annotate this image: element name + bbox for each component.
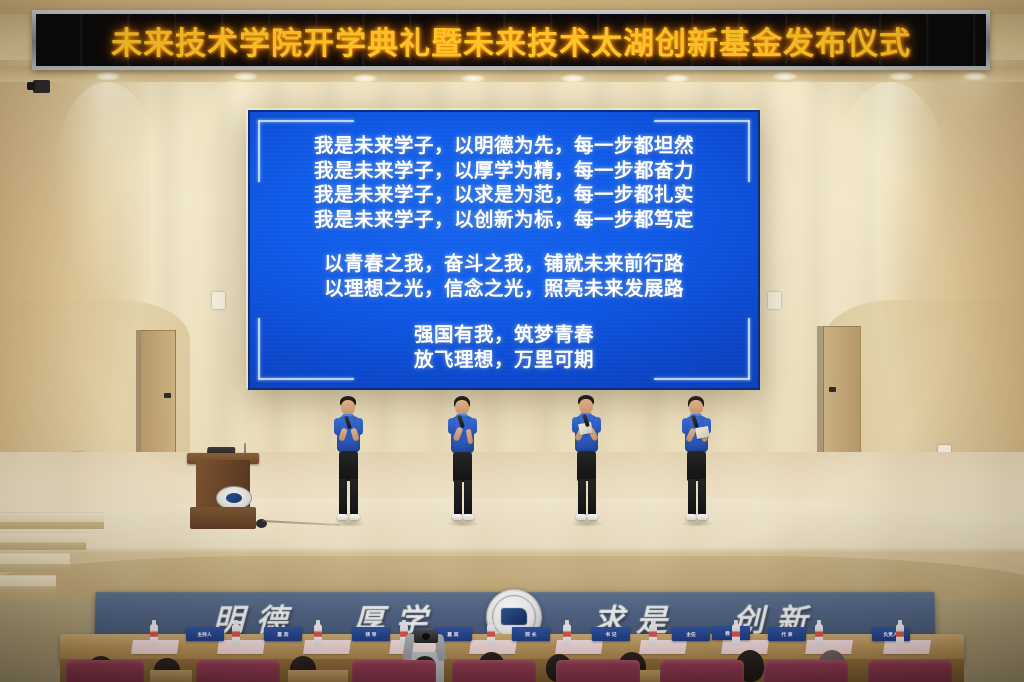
performer-leg	[339, 479, 347, 515]
chair-frame	[150, 670, 192, 682]
chair-back	[660, 660, 744, 682]
slide-line: 我是未来学子，以厚学为精，每一步都奋力	[314, 159, 694, 184]
nameplate-label: 书 记	[605, 631, 616, 638]
downlight	[95, 72, 121, 81]
nameplate-label: 嘉 宾	[447, 631, 458, 638]
downlight	[460, 74, 486, 83]
performer-leg	[454, 480, 462, 515]
performer-shadow	[447, 520, 479, 527]
performer	[330, 396, 366, 528]
performer-head	[689, 400, 703, 415]
nameplate: 书 记	[592, 627, 630, 641]
performer-head	[579, 399, 593, 414]
slide-line: 我是未来学子，以明德为先，每一步都坦然	[314, 134, 694, 159]
performer-leg	[464, 480, 472, 515]
performer-shadow	[681, 520, 713, 527]
table-paper	[883, 640, 931, 654]
nameplate: 领 导	[352, 627, 390, 641]
nameplate-label: 领 导	[365, 631, 376, 638]
water-bottle	[896, 624, 904, 646]
chair-back	[196, 660, 280, 682]
slide-line: 以青春之我，奋斗之我，铺就未来前行路	[324, 252, 684, 277]
nameplate: 教 授	[712, 626, 750, 640]
wall-plate	[212, 292, 225, 309]
led-banner-screen: 未来技术学院开学典礼暨未来技术太湖创新基金发布仪式	[36, 14, 986, 66]
water-bottle	[649, 624, 657, 646]
water-bottle	[232, 624, 240, 646]
water-bottle	[314, 624, 322, 646]
water-bottle	[563, 624, 571, 646]
chair-frame	[640, 670, 660, 682]
podium	[186, 447, 260, 530]
nameplate: 代 表	[768, 627, 806, 641]
performer	[444, 396, 480, 528]
downlight	[352, 74, 378, 83]
nameplate: 主任	[672, 627, 710, 641]
chair-back	[868, 660, 952, 682]
table-paper	[639, 640, 687, 654]
performer-leg	[688, 479, 696, 515]
slide-line: 以理想之光，信念之光，照亮未来发展路	[324, 277, 684, 302]
led-banner-frame: 未来技术学院开学典礼暨未来技术太湖创新基金发布仪式	[32, 10, 990, 70]
auditorium-scene: 未来技术学院开学典礼暨未来技术太湖创新基金发布仪式 我是未来学子，以明德为先，每…	[0, 0, 1024, 682]
performer-head	[341, 400, 355, 415]
performer-pants	[339, 451, 358, 481]
chair-back	[66, 660, 144, 682]
performer-pants	[453, 452, 472, 482]
downlight	[888, 72, 914, 81]
nameplate: 院 长	[512, 627, 550, 641]
performer-shadow	[571, 520, 603, 527]
performer-leg	[578, 479, 586, 515]
water-bottle	[732, 624, 740, 646]
chair-back	[352, 660, 436, 682]
downlight	[560, 74, 586, 83]
nameplate: 负责人	[872, 627, 910, 641]
performer-pants	[577, 451, 596, 481]
downlight	[772, 72, 798, 81]
slide-line: 强国有我，筑梦青春	[414, 323, 594, 348]
water-bottle	[150, 624, 158, 646]
right-door[interactable]	[823, 326, 861, 473]
performer-pants	[687, 451, 706, 481]
table-paper	[217, 640, 265, 654]
led-banner-text: 未来技术学院开学典礼暨未来技术太湖创新基金发布仪式	[111, 18, 911, 63]
nameplate-label: 代 表	[781, 631, 792, 638]
chair-back	[452, 660, 536, 682]
security-camera-icon	[33, 80, 50, 93]
door-handle-icon	[164, 393, 171, 398]
projection-screen: 我是未来学子，以明德为先，每一步都坦然 我是未来学子，以厚学为精，每一步都奋力 …	[248, 110, 760, 390]
downlight	[664, 74, 690, 83]
left-door[interactable]	[140, 330, 176, 472]
nameplate-label: 主任	[686, 631, 696, 638]
stage-floor-grain	[0, 452, 1024, 602]
performer	[678, 396, 714, 528]
performer-sleeve	[448, 418, 455, 434]
slide-line: 我是未来学子，以求是为范，每一步都扎实	[314, 183, 694, 208]
script-paper	[695, 426, 710, 439]
camera-icon	[414, 630, 438, 643]
wall-plate	[768, 292, 781, 309]
performer-head	[455, 400, 469, 415]
slide-line: 放飞理想，万里可期	[414, 348, 594, 373]
performer	[568, 395, 604, 528]
table-paper	[303, 640, 351, 654]
door-handle-icon	[829, 387, 836, 392]
nameplate-label: 院 长	[525, 631, 536, 638]
nameplate-label: 嘉 宾	[277, 631, 288, 638]
slide-line: 我是未来学子，以创新为标，每一步都笃定	[314, 208, 694, 233]
performer-leg	[350, 479, 358, 515]
nameplate: 嘉 宾	[264, 627, 302, 641]
podium-body	[196, 460, 250, 512]
performer-leg	[698, 479, 706, 515]
downlight	[962, 72, 988, 81]
nameplate: 主持人	[186, 627, 224, 641]
performer-leg	[588, 479, 596, 515]
podium-base	[190, 507, 256, 529]
screen-slide-content: 我是未来学子，以明德为先，每一步都坦然 我是未来学子，以厚学为精，每一步都奋力 …	[250, 112, 758, 388]
water-bottle	[487, 624, 495, 646]
chair-frame	[288, 670, 348, 682]
nameplate-label: 主持人	[198, 631, 212, 638]
downlight	[232, 72, 258, 81]
chair-back	[556, 660, 640, 682]
water-bottle	[815, 624, 823, 646]
chair-back	[764, 660, 848, 682]
